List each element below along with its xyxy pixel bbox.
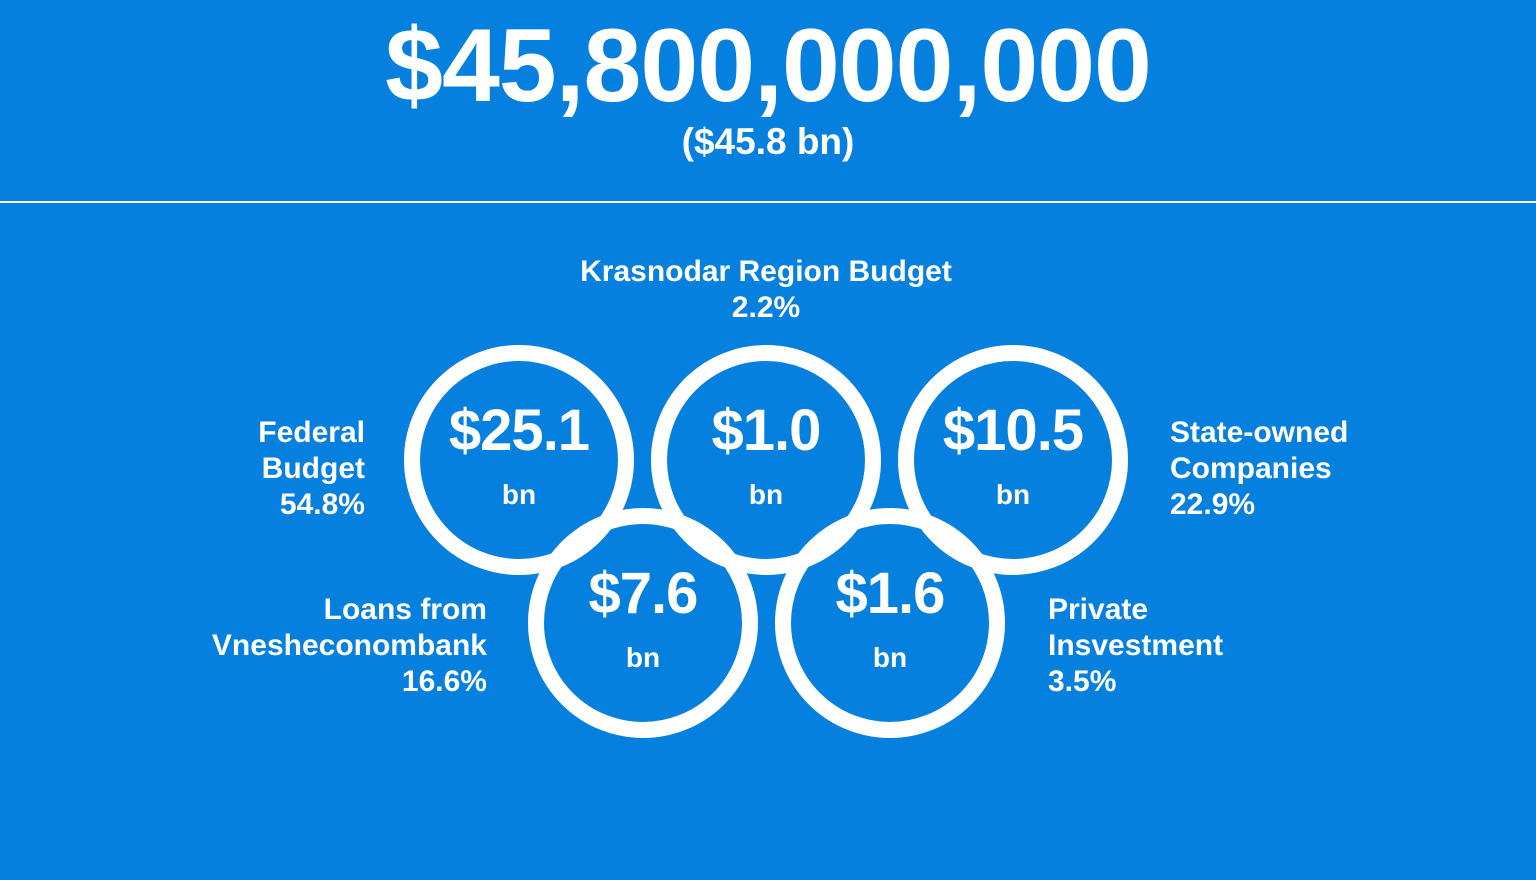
label-percent: 22.9% [1170, 488, 1255, 521]
ring-unit: bn [404, 481, 634, 509]
label-krasnodar-budget: Krasnodar Region Budget 2.2% [468, 254, 1064, 326]
label-percent: 3.5% [1048, 665, 1116, 698]
label-percent: 2.2% [732, 291, 800, 324]
ring-unit: bn [528, 644, 758, 672]
ring-amount: $7.6 [528, 565, 758, 623]
label-percent: 54.8% [280, 488, 365, 521]
ring-amount: $10.5 [898, 402, 1128, 460]
ring-amount: $1.6 [775, 565, 1005, 623]
label-text: Private [1048, 593, 1148, 626]
olympic-rings-chart: $25.1 bn $1.0 bn $10.5 bn $7.6 bn $1.6 b… [0, 0, 1536, 880]
ring-amount: $25.1 [404, 402, 634, 460]
ring-unit: bn [651, 481, 881, 509]
label-private-investment: Private Insvestment 3.5% [1048, 592, 1448, 700]
label-text: Budget [262, 452, 365, 485]
label-text: Krasnodar Region Budget [580, 255, 952, 288]
label-text: Vnesheconombank [212, 629, 487, 662]
label-text: Federal [258, 416, 365, 449]
label-vnesheconombank-loans: Loans from Vnesheconombank 16.6% [60, 592, 487, 700]
ring-amount: $1.0 [651, 402, 881, 460]
label-federal-budget: Federal Budget 54.8% [60, 415, 365, 523]
ring-unit: bn [898, 481, 1128, 509]
label-text: State-owned [1170, 416, 1348, 449]
label-state-owned-companies: State-owned Companies 22.9% [1170, 415, 1530, 523]
label-text: Companies [1170, 452, 1332, 485]
ring-unit: bn [775, 644, 1005, 672]
label-text: Insvestment [1048, 629, 1223, 662]
label-text: Loans from [324, 593, 487, 626]
label-percent: 16.6% [402, 665, 487, 698]
